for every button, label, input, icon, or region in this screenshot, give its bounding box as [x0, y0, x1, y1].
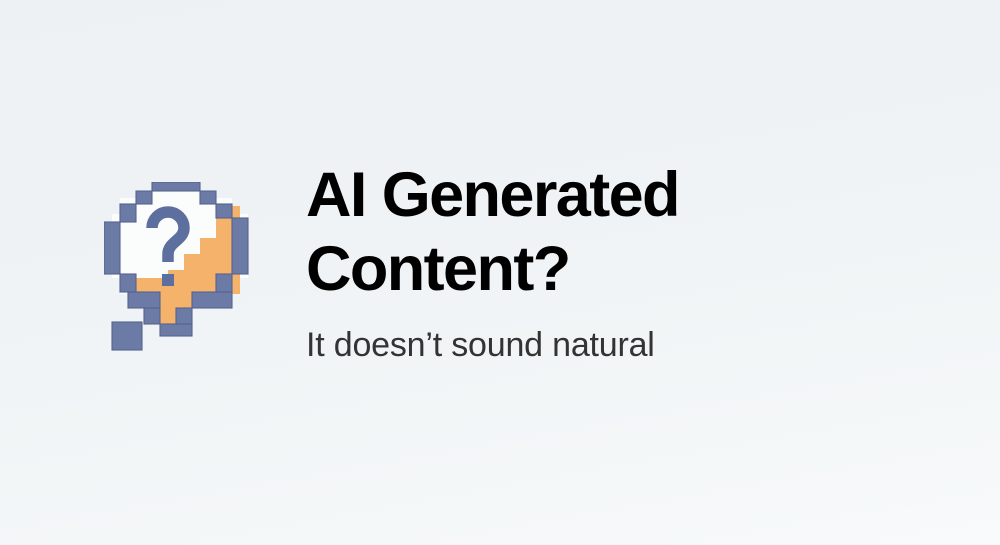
pixel-speech-bubble-question-icon	[104, 182, 264, 352]
page-title: AI Generated Content?	[306, 158, 946, 307]
page-subtitle: It doesn’t sound natural	[306, 307, 946, 366]
banner-root: AI Generated Content? It doesn’t sound n…	[0, 0, 1000, 545]
question-mark-dot	[162, 274, 174, 286]
text-block: AI Generated Content? It doesn’t sound n…	[306, 158, 946, 365]
